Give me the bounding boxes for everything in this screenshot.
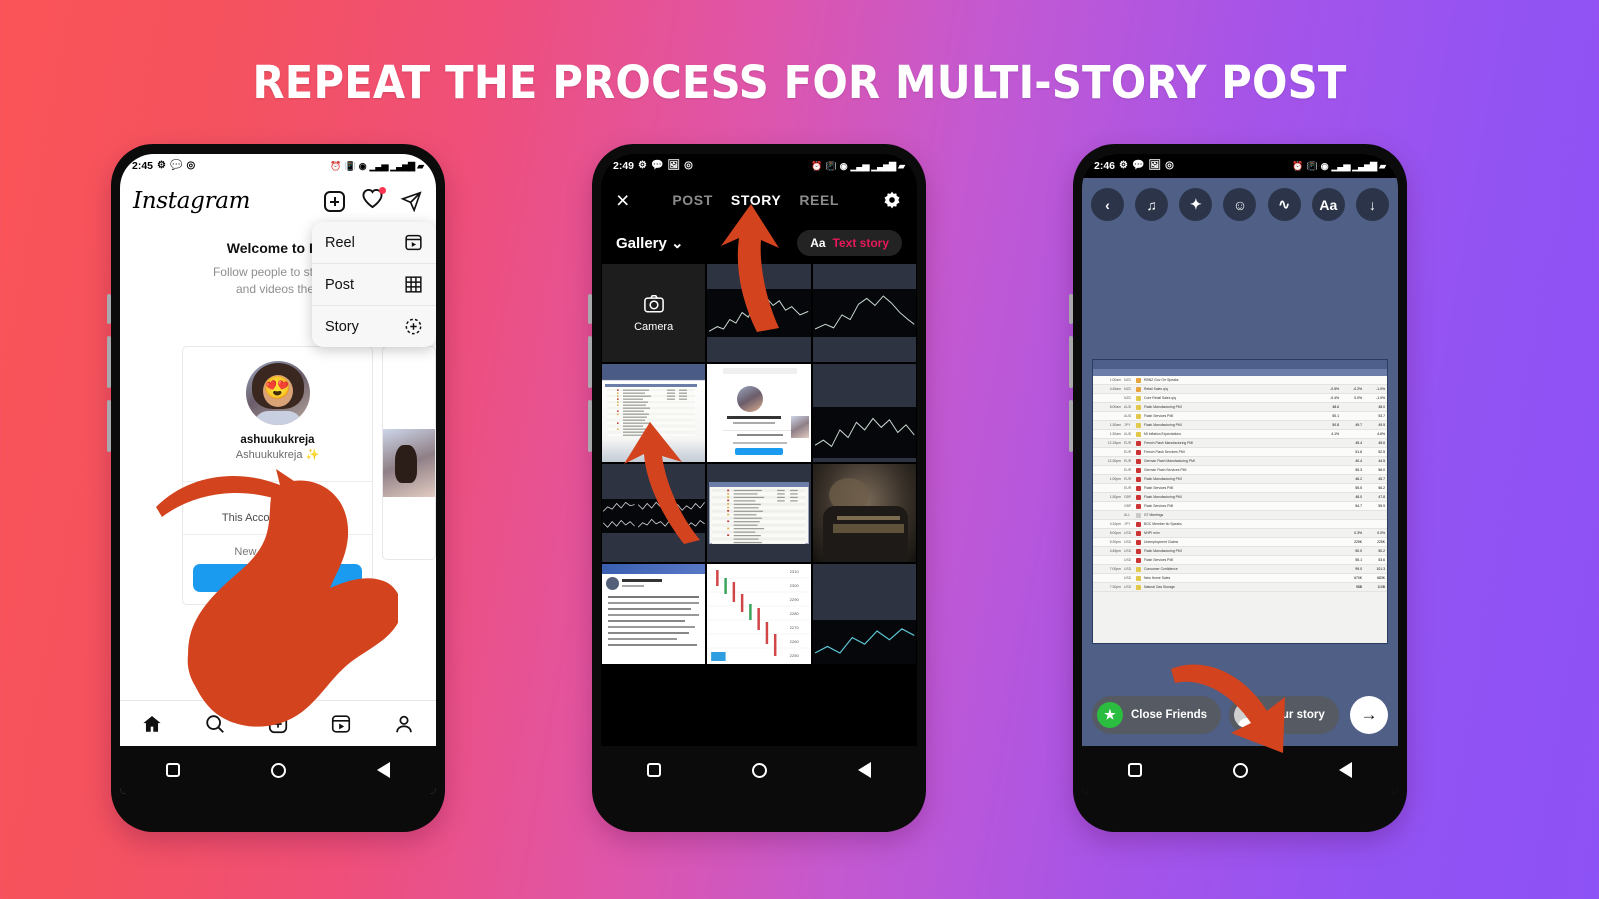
back-triangle-icon[interactable] xyxy=(858,762,871,778)
calendar-cell-actual: 4.1% xyxy=(1319,432,1339,436)
calendar-cell-impact xyxy=(1136,450,1141,455)
svg-text:2290: 2290 xyxy=(790,597,800,602)
calendar-cell-currency: NZD xyxy=(1124,387,1133,391)
home-circle-icon[interactable] xyxy=(1233,763,1248,778)
phone1-side-button-3 xyxy=(107,400,111,452)
battery-icon: ▰ xyxy=(417,161,424,172)
calendar-cell-currency: EUR xyxy=(1124,450,1133,454)
vibrate-icon: 📳 xyxy=(1307,161,1318,172)
calendar-cell-impact xyxy=(1136,441,1141,446)
gallery-item[interactable] xyxy=(813,364,916,462)
calendar-row: 5:30pmUSDUnemployment Claims229K225K xyxy=(1093,538,1387,547)
messenger-icon: 💬 xyxy=(1132,161,1144,171)
calendar-row: 6:00amAUDFlash Manufacturing PMI48.648.0 xyxy=(1093,403,1387,412)
camera-tile[interactable]: Camera xyxy=(602,264,705,362)
calendar-cell-currency: GBP xyxy=(1124,504,1133,508)
new-to-instagram-text: New to Instagram xyxy=(183,535,372,564)
calendar-row: USDFlash Services PMI55.153.6 xyxy=(1093,556,1387,565)
calendar-cell-actual: 48.6 xyxy=(1319,405,1339,409)
suggestion-username: ashuukukreja xyxy=(193,434,362,446)
calendar-row: 7:30pmUSDNatural Gas Storage98B110B xyxy=(1093,583,1387,592)
calendar-cell-impact xyxy=(1136,576,1141,581)
signal2-icon: ▁▃▅▇ xyxy=(390,161,414,172)
calendar-cell-impact xyxy=(1136,558,1141,563)
your-story-button[interactable]: Your story xyxy=(1229,696,1339,734)
calendar-cell-time: 4:45am xyxy=(1095,387,1121,391)
calendar-cell-event: NHPI m/m xyxy=(1144,531,1316,535)
calendar-cell-currency: AUD xyxy=(1124,405,1133,409)
calendar-cell-currency: USD xyxy=(1124,585,1133,589)
calendar-cell-time: 7:00pm xyxy=(1095,567,1121,571)
heart-eyes-emoji-icon: 😍 xyxy=(264,377,291,399)
back-triangle-icon[interactable] xyxy=(1339,762,1352,778)
gallery-item[interactable] xyxy=(602,564,705,664)
calendar-cell-forecast: 98B xyxy=(1342,585,1362,589)
text-story-button[interactable]: Aa Text story xyxy=(797,230,902,256)
camera-tile-label: Camera xyxy=(634,321,673,333)
messenger-icon: 💬 xyxy=(651,161,663,171)
suggestion-card[interactable]: 😍 ashuukukreja Ashuukukreja ✨ This Accou… xyxy=(182,346,373,605)
tab-post[interactable]: POST xyxy=(672,192,713,208)
calendar-cell-forecast: 55.3 xyxy=(1342,468,1362,472)
calendar-cell-event: Core Retail Sales q/q xyxy=(1144,396,1316,400)
calendar-toolbar xyxy=(1093,360,1387,369)
messenger-icon: 💬 xyxy=(170,161,182,171)
calendar-cell-event: Consumer Confidence xyxy=(1144,567,1316,571)
calendar-cell-forecast: 99.0 xyxy=(1342,567,1362,571)
phone1-android-navbar[interactable] xyxy=(120,746,436,794)
calendar-cell-currency: USD xyxy=(1124,549,1133,553)
suggestion-fullname: Ashuukukreja ✨ xyxy=(193,448,362,461)
recents-square-icon[interactable] xyxy=(166,763,180,777)
calendar-row: 1:30pmGBPFlash Manufacturing PMI48.047.8 xyxy=(1093,493,1387,502)
calendar-row: 1:00pmEURFlash Manufacturing PMI46.245.7 xyxy=(1093,475,1387,484)
menu-item-story[interactable]: Story xyxy=(312,306,436,347)
calendar-cell-impact xyxy=(1136,396,1141,401)
recents-square-icon[interactable] xyxy=(1128,763,1142,777)
phone2-android-navbar[interactable] xyxy=(601,746,917,794)
calendar-cell-forecast: 51.6 xyxy=(1342,450,1362,454)
calendar-cell-time: 1:30am xyxy=(1095,432,1121,436)
calendar-cell-currency: EUR xyxy=(1124,441,1133,445)
lock-icon xyxy=(271,494,284,509)
calendar-cell-currency: USD xyxy=(1124,558,1133,562)
calendar-screenshot: 1:00amNZDRBNZ Gov Orr Speaks4:45amNZDRet… xyxy=(1092,359,1388,644)
create-dropdown-menu[interactable]: Reel Post Story xyxy=(312,222,436,347)
calendar-cell-impact xyxy=(1136,522,1141,527)
calendar-cell-time: 5:00pm xyxy=(1095,531,1121,535)
svg-text:2310: 2310 xyxy=(790,569,800,574)
gear-icon: ⚙ xyxy=(638,161,647,171)
menu-item-story-label: Story xyxy=(325,319,359,335)
reel-icon xyxy=(404,233,423,252)
phone3-side-button-1 xyxy=(1069,294,1073,324)
menu-item-reel-label: Reel xyxy=(325,235,355,251)
calendar-cell-event: Flash Manufacturing PMI xyxy=(1144,423,1316,427)
star-icon: ★ xyxy=(1097,702,1123,728)
calendar-rows: 1:00amNZDRBNZ Gov Orr Speaks4:45amNZDRet… xyxy=(1093,376,1387,592)
calendar-row: USDNew Home Sales670K683K xyxy=(1093,574,1387,583)
avatar-body xyxy=(254,411,302,425)
calendar-cell-actual: 50.8 xyxy=(1319,423,1339,427)
draw-icon[interactable]: ∿ xyxy=(1268,188,1301,221)
alarm-icon: ⏰ xyxy=(330,161,341,172)
avatar: 😍 xyxy=(246,361,310,425)
calendar-row: 4:45amNZDRetail Sales q/q-0.5%-0.2%-1.0% xyxy=(1093,385,1387,394)
calendar-cell-currency: EUR xyxy=(1124,486,1133,490)
calendar-cell-currency: GBP xyxy=(1124,495,1133,499)
calendar-cell-forecast: 0.3% xyxy=(1342,531,1362,535)
calendar-cell-event: Unemployment Claims xyxy=(1144,540,1316,544)
phone-mockup-2: 2:49 ⚙ 💬 🖼 ◎ ⏰ 📳 ◉ ▁▃▅ ▁▃▅▇ ▰ × POST STO… xyxy=(592,144,926,832)
calendar-cell-impact xyxy=(1136,477,1141,482)
heart-icon[interactable] xyxy=(361,188,384,214)
at-icon: ◎ xyxy=(186,161,195,171)
calendar-cell-forecast: 54.7 xyxy=(1342,504,1362,508)
gallery-selector-label: Gallery xyxy=(616,235,667,252)
signal2-icon: ▁▃▅▇ xyxy=(871,161,895,172)
phone2-screen: 2:49 ⚙ 💬 🖼 ◎ ⏰ 📳 ◉ ▁▃▅ ▁▃▅▇ ▰ × POST STO… xyxy=(601,154,917,794)
calendar-row: 4:10pmJPYBOC Member Ito Speaks xyxy=(1093,520,1387,529)
calendar-cell-event: Flash Services PMI xyxy=(1144,558,1316,562)
back-icon[interactable]: ‹ xyxy=(1091,188,1124,221)
calendar-row: 1:30amJPYFlash Manufacturing PMI50.849.7… xyxy=(1093,421,1387,430)
calendar-cell-forecast: 49.7 xyxy=(1342,423,1362,427)
story-plus-icon xyxy=(404,317,423,336)
calendar-cell-time: 6:00am xyxy=(1095,405,1121,409)
calendar-cell-event: BOC Member Ito Speaks xyxy=(1144,522,1316,526)
calendar-cell-event: New Home Sales xyxy=(1144,576,1316,580)
gallery-item[interactable]: 23102300 22902280 22702260 2250 xyxy=(707,564,810,664)
private-account-text: This Account is Private xyxy=(191,512,364,524)
phone3-side-button-2 xyxy=(1069,336,1073,388)
calendar-cell-forecast: 229K xyxy=(1342,540,1362,544)
calendar-cell-forecast: 55.5 xyxy=(1342,486,1362,490)
calendar-row: 12:15pmEURFrench Flash Manufacturing PMI… xyxy=(1093,439,1387,448)
phone1-screen: 2:45 ⚙ 💬 ◎ ⏰ 📳 ◉ ▁▃▅ ▁▃▅▇ ▰ Instagram xyxy=(120,154,436,794)
aa-icon: Aa xyxy=(810,236,825,250)
instagram-tab-bar[interactable] xyxy=(120,700,436,746)
gallery-item[interactable] xyxy=(602,464,705,562)
calendar-row: GBPFlash Services PMI54.755.9 xyxy=(1093,502,1387,511)
calendar-cell-currency: NZD xyxy=(1124,378,1133,382)
close-friends-button[interactable]: ★ Close Friends xyxy=(1092,696,1221,734)
sparkle-icon[interactable]: ✦ xyxy=(1179,188,1212,221)
gallery-sub-header: Gallery ⌄ Aa Text story xyxy=(601,222,917,264)
calendar-cell-currency: ALL xyxy=(1124,513,1133,517)
create-header: × POST STORY REEL xyxy=(601,178,917,222)
calendar-cell-forecast: 48.0 xyxy=(1342,495,1362,499)
calendar-cell-previous: -1.0% xyxy=(1365,387,1385,391)
calendar-cell-impact xyxy=(1136,531,1141,536)
calendar-cell-forecast: 46.2 xyxy=(1342,477,1362,481)
download-icon[interactable]: ↓ xyxy=(1356,188,1389,221)
calendar-cell-impact xyxy=(1136,495,1141,500)
home-circle-icon[interactable] xyxy=(752,763,767,778)
calendar-cell-currency: EUR xyxy=(1124,468,1133,472)
calendar-cell-previous: 48.0 xyxy=(1365,405,1385,409)
battery-icon: ▰ xyxy=(1379,161,1386,172)
calendar-cell-event: MI Inflation Expectations xyxy=(1144,432,1316,436)
phone1-side-button-1 xyxy=(107,294,111,324)
your-story-label: Your story xyxy=(1268,709,1325,721)
calendar-row: EURFrench Flash Services PMI51.652.5 xyxy=(1093,448,1387,457)
add-icon[interactable] xyxy=(267,713,289,735)
calendar-cell-previous: 53.6 xyxy=(1365,558,1385,562)
calendar-row: ALLG7 Meetings xyxy=(1093,511,1387,520)
phone2-side-button-1 xyxy=(588,294,592,324)
chevron-down-icon: ⌄ xyxy=(671,235,684,252)
calendar-cell-time: 1:00pm xyxy=(1095,477,1121,481)
svg-text:2260: 2260 xyxy=(790,639,800,644)
svg-text:2280: 2280 xyxy=(790,611,800,616)
gallery-item[interactable] xyxy=(707,464,810,562)
close-icon[interactable]: × xyxy=(616,189,629,212)
calendar-cell-event: German Flash Manufacturing PMI xyxy=(1144,459,1316,463)
instagram-header: Instagram xyxy=(120,178,436,224)
calendar-cell-previous: 56.2 xyxy=(1365,486,1385,490)
back-triangle-icon[interactable] xyxy=(377,762,390,778)
status-time: 2:45 xyxy=(132,160,153,172)
calendar-cell-time: 1:00am xyxy=(1095,378,1121,382)
gallery-item[interactable] xyxy=(813,464,916,562)
gallery-grid[interactable]: Camera xyxy=(601,264,917,664)
phone-mockup-3: 2:46 ⚙ 💬 🖼 ◎ ⏰ 📳 ◉ ▁▃▅ ▁▃▅▇ ▰ ‹ ♫ ✦ ☺ ∿ … xyxy=(1073,144,1407,832)
calendar-cell-impact xyxy=(1136,468,1141,473)
calendar-row: NZDCore Retail Sales q/q-0.4%0.0%-1.0% xyxy=(1093,394,1387,403)
story-share-bar[interactable]: ★ Close Friends Your story → xyxy=(1082,684,1398,746)
signal-icon: ▁▃▅ xyxy=(370,161,388,172)
tab-reel[interactable]: REEL xyxy=(799,192,839,208)
phone3-status-bar: 2:46 ⚙ 💬 🖼 ◎ ⏰ 📳 ◉ ▁▃▅ ▁▃▅▇ ▰ xyxy=(1082,154,1398,178)
calendar-cell-actual: -0.4% xyxy=(1319,396,1339,400)
calendar-cell-previous: 53.7 xyxy=(1365,414,1385,418)
page-title: REPEAT THE PROCESS FOR MULTI-STORY POST xyxy=(0,56,1599,109)
phone2-status-bar: 2:49 ⚙ 💬 🖼 ◎ ⏰ 📳 ◉ ▁▃▅ ▁▃▅▇ ▰ xyxy=(601,154,917,178)
tab-story[interactable]: STORY xyxy=(731,192,781,208)
signal2-icon: ▁▃▅▇ xyxy=(1352,161,1376,172)
phone3-side-button-3 xyxy=(1069,400,1073,452)
calendar-cell-previous: 101.3 xyxy=(1365,567,1385,571)
gear-icon: ⚙ xyxy=(1119,161,1128,171)
avatar xyxy=(1234,702,1260,728)
gear-icon: ⚙ xyxy=(157,161,166,171)
calendar-row: 1:30amAUDMI Inflation Expectations4.1%4.… xyxy=(1093,430,1387,439)
calendar-cell-event: Retail Sales q/q xyxy=(1144,387,1316,391)
calendar-cell-event: Flash Manufacturing PMI xyxy=(1144,495,1316,499)
calendar-cell-forecast: 0.0% xyxy=(1342,396,1362,400)
calendar-cell-impact xyxy=(1136,486,1141,491)
alarm-icon: ⏰ xyxy=(811,161,822,172)
phone1-status-bar: 2:45 ⚙ 💬 ◎ ⏰ 📳 ◉ ▁▃▅ ▁▃▅▇ ▰ xyxy=(120,154,436,178)
calendar-cell-previous: 50.2 xyxy=(1365,549,1385,553)
photo-icon: 🖼 xyxy=(1148,161,1161,171)
share-icon[interactable] xyxy=(400,191,423,212)
camera-icon xyxy=(643,294,665,314)
gallery-item[interactable] xyxy=(602,364,705,462)
calendar-cell-currency: USD xyxy=(1124,576,1133,580)
menu-item-reel[interactable]: Reel xyxy=(312,222,436,264)
gear-icon[interactable] xyxy=(882,190,902,210)
calendar-cell-impact xyxy=(1136,414,1141,419)
calendar-cell-currency: AUD xyxy=(1124,432,1133,436)
calendar-cell-previous: 55.9 xyxy=(1365,504,1385,508)
phone3-screen: 2:46 ⚙ 💬 🖼 ◎ ⏰ 📳 ◉ ▁▃▅ ▁▃▅▇ ▰ ‹ ♫ ✦ ☺ ∿ … xyxy=(1082,154,1398,794)
calendar-cell-time: 7:30pm xyxy=(1095,585,1121,589)
gallery-item[interactable] xyxy=(707,264,810,362)
calendar-cell-impact xyxy=(1136,423,1141,428)
calendar-cell-previous: 45.7 xyxy=(1365,477,1385,481)
home-circle-icon[interactable] xyxy=(271,763,286,778)
calendar-cell-currency: EUR xyxy=(1124,477,1133,481)
calendar-row: 1:00amNZDRBNZ Gov Orr Speaks xyxy=(1093,376,1387,385)
status-time: 2:46 xyxy=(1094,160,1115,172)
calendar-cell-actual: 50.1 xyxy=(1319,414,1339,418)
calendar-cell-impact xyxy=(1136,504,1141,509)
calendar-cell-forecast: 50.0 xyxy=(1342,549,1362,553)
calendar-cell-previous: -1.0% xyxy=(1365,396,1385,400)
calendar-cell-time: 12:30pm xyxy=(1095,459,1121,463)
calendar-cell-event: Flash Services PMI xyxy=(1144,414,1316,418)
suggestion-thumbnail xyxy=(383,429,435,497)
calendar-cell-currency: NZD xyxy=(1124,396,1133,400)
calendar-cell-previous: 4.6% xyxy=(1365,432,1385,436)
music-icon[interactable]: ♫ xyxy=(1135,188,1168,221)
instagram-logo: Instagram xyxy=(133,188,250,214)
reels-icon[interactable] xyxy=(330,713,352,735)
calendar-cell-impact xyxy=(1136,585,1141,590)
calendar-cell-event: Flash Manufacturing PMI xyxy=(1144,405,1316,409)
svg-text:2300: 2300 xyxy=(790,583,800,588)
calendar-row: 12:30pmEURGerman Flash Manufacturing PMI… xyxy=(1093,457,1387,466)
wifi-icon: ◉ xyxy=(359,161,367,172)
calendar-cell-time: 12:15pm xyxy=(1095,441,1121,445)
calendar-cell-impact xyxy=(1136,387,1141,392)
at-icon: ◎ xyxy=(1165,161,1174,171)
calendar-cell-time: 1:30am xyxy=(1095,423,1121,427)
calendar-cell-forecast: 45.4 xyxy=(1342,441,1362,445)
photo-icon: 🖼 xyxy=(667,161,680,171)
arrow-right-icon[interactable]: → xyxy=(1350,696,1388,734)
calendar-row: EURFlash Services PMI55.556.2 xyxy=(1093,484,1387,493)
vibrate-icon: 📳 xyxy=(345,161,356,172)
svg-text:2270: 2270 xyxy=(790,625,800,630)
calendar-cell-forecast: 670K xyxy=(1342,576,1362,580)
vibrate-icon: 📳 xyxy=(826,161,837,172)
calendar-cell-forecast: 55.1 xyxy=(1342,558,1362,562)
follow-button[interactable]: Follow xyxy=(193,564,362,592)
calendar-cell-previous: 0.0% xyxy=(1365,531,1385,535)
calendar-cell-previous: 683K xyxy=(1365,576,1385,580)
svg-text:2250: 2250 xyxy=(790,653,800,658)
phone2-side-button-3 xyxy=(588,400,592,452)
grid-icon xyxy=(404,275,423,294)
calendar-cell-impact xyxy=(1136,540,1141,545)
gallery-item[interactable] xyxy=(707,364,810,462)
calendar-row: 4:45pmUSDFlash Manufacturing PMI50.050.2 xyxy=(1093,547,1387,556)
calendar-cell-event: Flash Manufacturing PMI xyxy=(1144,549,1316,553)
calendar-cell-impact xyxy=(1136,513,1141,518)
signal-icon: ▁▃▅ xyxy=(1332,161,1350,172)
phone2-side-button-2 xyxy=(588,336,592,388)
search-icon[interactable] xyxy=(204,713,226,735)
gallery-item[interactable] xyxy=(813,264,916,362)
calendar-cell-currency: AUD xyxy=(1124,414,1133,418)
text-icon[interactable]: Aa xyxy=(1312,188,1345,221)
calendar-cell-time: 4:45pm xyxy=(1095,549,1121,553)
sticker-icon[interactable]: ☺ xyxy=(1223,188,1256,221)
calendar-cell-time: 5:30pm xyxy=(1095,540,1121,544)
calendar-cell-previous: 45.6 xyxy=(1365,441,1385,445)
calendar-cell-forecast: 40.4 xyxy=(1342,459,1362,463)
calendar-row: 7:00pmUSDConsumer Confidence99.0101.3 xyxy=(1093,565,1387,574)
calendar-cell-impact xyxy=(1136,432,1141,437)
calendar-cell-event: RBNZ Gov Orr Speaks xyxy=(1144,378,1316,382)
phone1-side-button-2 xyxy=(107,336,111,388)
calendar-row: EURGerman Flash Services PMI55.356.0 xyxy=(1093,466,1387,475)
calendar-cell-previous: 110B xyxy=(1365,585,1385,589)
wifi-icon: ◉ xyxy=(840,161,848,172)
calendar-cell-event: Flash Services PMI xyxy=(1144,504,1316,508)
calendar-cell-previous: 225K xyxy=(1365,540,1385,544)
create-mode-tabs[interactable]: POST STORY REEL xyxy=(672,192,839,208)
calendar-cell-currency: JPY xyxy=(1124,522,1133,526)
calendar-cell-event: Flash Services PMI xyxy=(1144,486,1316,490)
calendar-cell-time: 4:10pm xyxy=(1095,522,1121,526)
calendar-cell-event: G7 Meetings xyxy=(1144,513,1316,517)
calendar-cell-previous: 44.5 xyxy=(1365,459,1385,463)
calendar-cell-event: Natural Gas Storage xyxy=(1144,585,1316,589)
calendar-cell-impact xyxy=(1136,549,1141,554)
phone-mockup-1: 2:45 ⚙ 💬 ◎ ⏰ 📳 ◉ ▁▃▅ ▁▃▅▇ ▰ Instagram xyxy=(111,144,445,832)
calendar-cell-event: German Flash Services PMI xyxy=(1144,468,1316,472)
notification-badge xyxy=(379,187,386,194)
recents-square-icon[interactable] xyxy=(647,763,661,777)
calendar-cell-previous: 52.5 xyxy=(1365,450,1385,454)
home-icon[interactable] xyxy=(141,713,163,735)
calendar-cell-impact xyxy=(1136,567,1141,572)
status-time: 2:49 xyxy=(613,160,634,172)
text-story-label: Text story xyxy=(833,236,889,250)
close-friends-label: Close Friends xyxy=(1131,709,1207,721)
calendar-cell-impact xyxy=(1136,405,1141,410)
plus-box-icon[interactable] xyxy=(324,191,345,212)
wifi-icon: ◉ xyxy=(1321,161,1329,172)
calendar-cell-currency: EUR xyxy=(1124,459,1133,463)
calendar-cell-forecast: -0.2% xyxy=(1342,387,1362,391)
phone3-android-navbar[interactable] xyxy=(1082,746,1398,794)
calendar-cell-actual: -0.5% xyxy=(1319,387,1339,391)
alarm-icon: ⏰ xyxy=(1292,161,1303,172)
calendar-cell-impact xyxy=(1136,378,1141,383)
calendar-cell-currency: USD xyxy=(1124,567,1133,571)
story-editor-toolbar[interactable]: ‹ ♫ ✦ ☺ ∿ Aa ↓ xyxy=(1082,178,1398,221)
calendar-cell-time: 1:30pm xyxy=(1095,495,1121,499)
suggestion-card-secondary[interactable] xyxy=(382,346,436,560)
gallery-selector[interactable]: Gallery ⌄ xyxy=(616,234,684,252)
calendar-cell-event: Flash Manufacturing PMI xyxy=(1144,477,1316,481)
calendar-cell-event: French Flash Services PMI xyxy=(1144,450,1316,454)
calendar-cell-previous: 47.8 xyxy=(1365,495,1385,499)
calendar-row: AUDFlash Services PMI50.153.7 xyxy=(1093,412,1387,421)
calendar-cell-previous: 56.0 xyxy=(1365,468,1385,472)
signal-icon: ▁▃▅ xyxy=(851,161,869,172)
menu-item-post[interactable]: Post xyxy=(312,264,436,306)
calendar-cell-previous: 49.5 xyxy=(1365,423,1385,427)
at-icon: ◎ xyxy=(684,161,693,171)
gallery-item[interactable] xyxy=(813,564,916,664)
profile-icon[interactable] xyxy=(393,713,415,735)
